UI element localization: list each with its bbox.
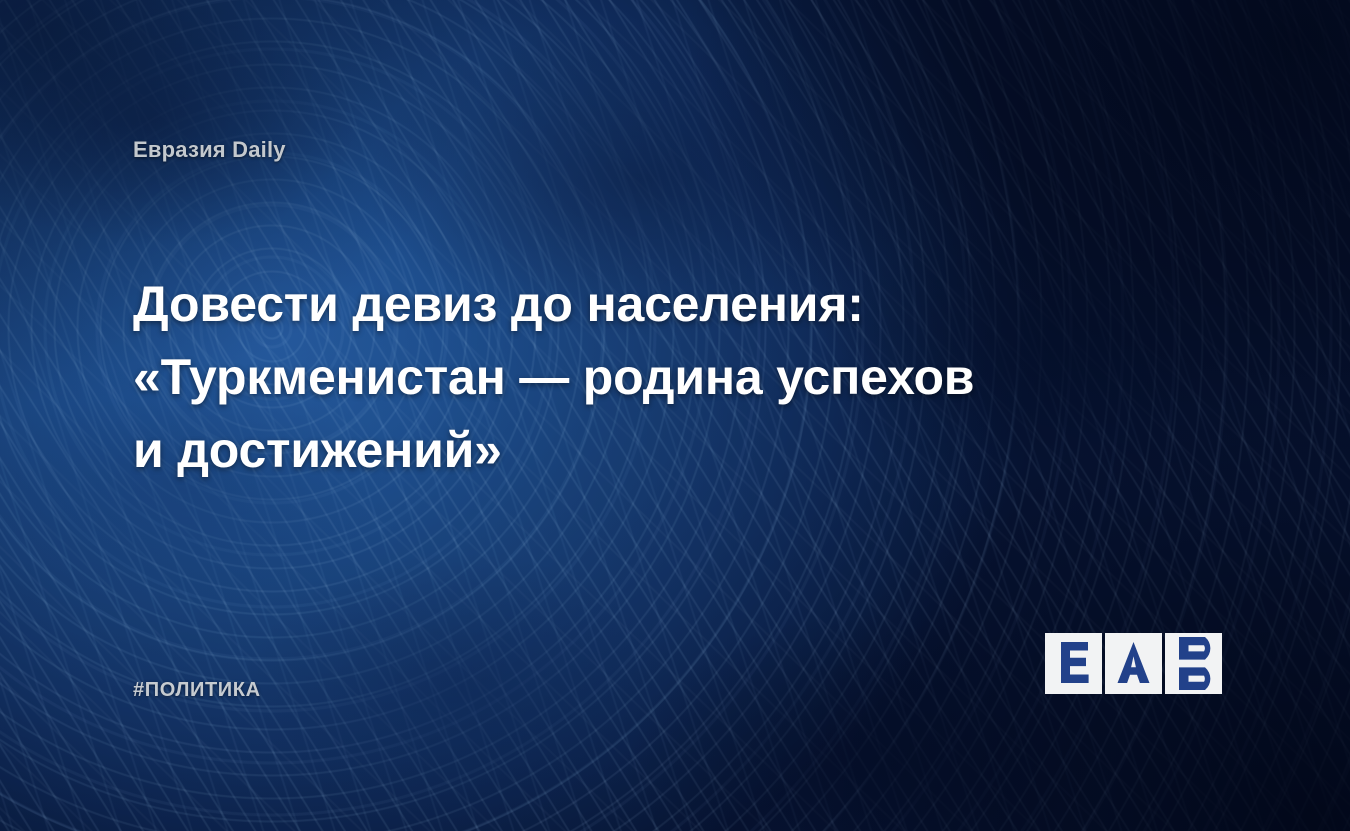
headline-line-2: «Туркменистан — родина успехов [133,341,1073,414]
logo-letter-e-icon [1045,633,1102,694]
logo-tile-a [1105,633,1162,694]
headline-line-3: и достижений» [133,414,1073,487]
logo-tile-e [1045,633,1102,694]
headline-line-1: Довести девиз до населения: [133,268,1073,341]
card-content: Евразия Daily Довести девиз до населения… [0,0,1350,831]
logo-tile-d [1165,633,1222,694]
brand-wordmark: Евразия Daily [133,137,286,163]
page-title: Довести девиз до населения: «Туркмениста… [133,268,1073,487]
eadaily-logo[interactable] [1045,633,1223,694]
logo-letter-a-icon [1105,633,1162,694]
logo-d-seam [1165,662,1222,665]
category-hashtag[interactable]: #ПОЛИТИКА [133,679,261,702]
social-share-card: Евразия Daily Довести девиз до населения… [0,0,1350,831]
